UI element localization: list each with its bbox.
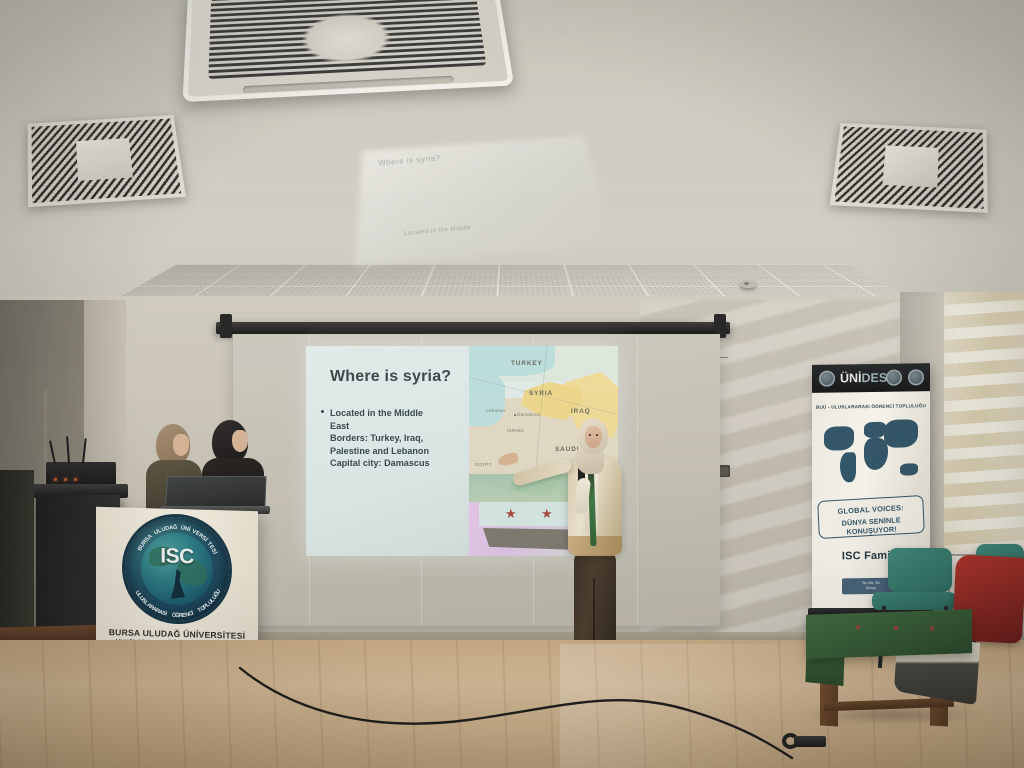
power-adapter — [782, 733, 826, 750]
map-label-iraq: IRAQ — [571, 408, 591, 415]
slide-bullet-line: Borders: Turkey, Iraq, — [330, 432, 480, 445]
isc-logo-ring-text: BURSA ULUDAĞ ÜNİVERSİTESİULUSLARARASI ÖĞ… — [125, 516, 229, 623]
isc-ring-char: Ğ — [173, 525, 178, 531]
zebra-blind[interactable] — [944, 292, 1024, 552]
slide-bullet-line: East — [330, 420, 480, 433]
eye-icon — [589, 434, 591, 436]
square-diffuser-icon — [28, 115, 186, 207]
map-label-egypt: EGYPT — [475, 462, 492, 467]
network-router — [46, 462, 116, 486]
projector-light-spill — [354, 135, 614, 266]
slide-bullet-line: Capital city: Damascus — [330, 457, 480, 470]
map-label-turkey: TURKEY — [511, 360, 543, 367]
power-cable — [236, 662, 796, 762]
router-led-icon — [54, 478, 57, 481]
continent-europe — [864, 422, 886, 438]
banner-logo-icon — [819, 371, 835, 387]
banner-subtitle: BUÜ - ULUSLARARASI ÖĞRENCİ TOPLULUĞU — [812, 403, 930, 410]
continent-north-america — [824, 426, 854, 450]
slide-title: Where is syria? — [330, 368, 451, 386]
map-label-damascus: Damascus — [517, 412, 540, 417]
screen-bracket-left — [220, 314, 232, 338]
router-led-icon — [74, 478, 77, 481]
ac-cassette-unit — [182, 0, 514, 102]
continent-asia — [884, 419, 918, 447]
banner-wordmark: ÜNİDES — [840, 371, 887, 386]
banner-logo-icon — [886, 370, 902, 386]
banner-ribbon: GLOBAL VOICES: DÜNYA SENİNLE KONUŞUYOR! — [817, 495, 925, 539]
photo-scene: Where is syria? Located in the Middle Wh… — [0, 0, 1024, 768]
flag-star-icon: ★ — [892, 624, 900, 633]
adapter-body — [794, 736, 826, 747]
continent-south-america — [840, 452, 856, 482]
banner-logo-icon — [908, 369, 924, 385]
slide-bullet-line: Palestine and Lebanon — [330, 445, 480, 458]
isc-ring-char: I — [164, 611, 167, 617]
chair-backrest[interactable] — [888, 548, 952, 592]
laptop-screen[interactable] — [165, 476, 267, 508]
eye-icon — [596, 434, 598, 436]
isc-ring-char: İ — [211, 552, 217, 556]
map-label-israel: ISRAEL — [507, 428, 525, 433]
flag-star-icon: ★ — [854, 623, 862, 632]
banner-word-part1: ÜNİ — [840, 371, 862, 385]
slide-bullet-line: Located in the Middle — [330, 407, 480, 420]
smoke-detector-icon — [740, 280, 756, 288]
map-city-dot-icon — [514, 414, 516, 416]
world-map-graphic — [820, 417, 922, 492]
projection-screen-housing[interactable] — [216, 322, 730, 334]
bullet-dot-icon — [321, 410, 324, 413]
slide-bullet-list: Located in the Middle East Borders: Turk… — [330, 407, 480, 470]
table-cloth-syrian-flag: ★ ★ ★ — [806, 609, 972, 659]
ceiling: Where is syria? Located in the Middle — [0, 0, 1024, 318]
flag-star-icon: ★ — [541, 507, 554, 520]
banner-header-bar: ÜNİDES — [812, 363, 930, 393]
face — [173, 434, 189, 456]
square-diffuser-icon — [830, 123, 988, 213]
flag-star-icon: ★ — [505, 507, 518, 520]
banner-word-part2: DES — [862, 371, 888, 385]
face — [232, 430, 248, 452]
banner-ribbon-line-2: DÜNYA SENİNLE KONUŞUYOR! — [819, 514, 924, 538]
router-led-icon — [64, 478, 67, 481]
presenter-woman — [556, 418, 630, 670]
continent-australia — [900, 463, 918, 475]
isc-globe-logo: ISC BURSA ULUDAĞ ÜNİVERSİTESİULUSLARARAS… — [125, 516, 229, 623]
flag-star-icon: ★ — [928, 624, 936, 633]
map-label-lebanon: Lebanon — [486, 408, 505, 413]
map-label-syria: SYRIA — [529, 390, 553, 397]
